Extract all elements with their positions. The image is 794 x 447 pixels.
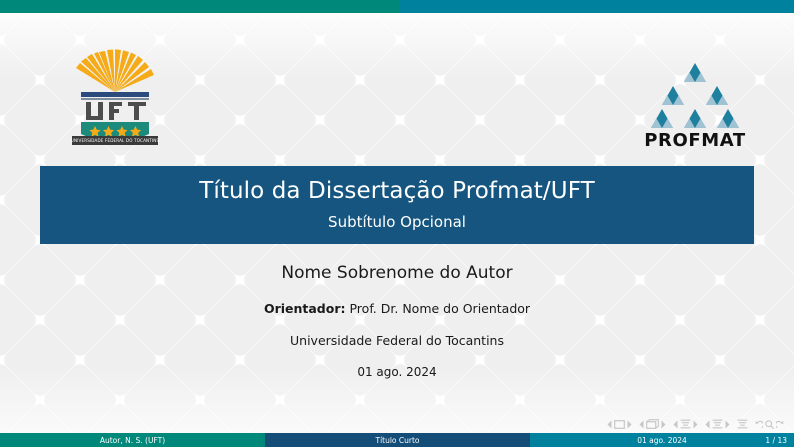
beamer-navigation-symbols[interactable] (607, 417, 784, 431)
footer-page-number: 1 / 13 (765, 433, 787, 447)
footer-title-text: Título Curto (375, 436, 419, 445)
advisor-line: Orientador: Prof. Dr. Nome do Orientador (0, 301, 794, 316)
slide-navigation-group[interactable] (607, 420, 632, 429)
frame-navigation-group[interactable] (639, 419, 666, 429)
uft-banner-text: UNIVERSIDADE FEDERAL DO TOCANTINS (71, 138, 160, 143)
topbar-right-segment (400, 0, 794, 13)
author-block: Nome Sobrenome do Autor Orientador: Prof… (0, 263, 794, 379)
title-box: Título da Dissertação Profmat/UFT Subtít… (40, 166, 754, 244)
slide-footer: Autor, N. S. (UFT) Título Curto 01 ago. … (0, 433, 794, 447)
section-navigation-group[interactable] (705, 419, 730, 429)
subsection-prev-icon[interactable] (673, 420, 678, 429)
advisor-label: Orientador: (264, 301, 346, 316)
footer-date-cell: 01 ago. 2024 1 / 13 (530, 433, 794, 447)
presentation-date: 01 ago. 2024 (0, 365, 794, 379)
slide-next-icon[interactable] (627, 420, 632, 429)
topbar-left-segment (0, 0, 400, 13)
profmat-logo: PROFMAT (636, 55, 754, 150)
history-navigation-group[interactable] (755, 420, 784, 429)
presentation-subtitle: Subtítulo Opcional (328, 213, 466, 232)
section-icon[interactable] (712, 419, 723, 429)
institute-name: Universidade Federal do Tocantins (0, 333, 794, 348)
slide-prev-icon[interactable] (607, 420, 612, 429)
author-name: Nome Sobrenome do Autor (0, 263, 794, 283)
forward-icon[interactable] (776, 420, 784, 429)
section-prev-icon[interactable] (705, 420, 710, 429)
footer-author-cell: Autor, N. S. (UFT) (0, 433, 265, 447)
presentation-slide: UNIVERSIDADE FEDERAL DO TOCANTINS (0, 0, 794, 447)
search-icon[interactable] (765, 420, 774, 429)
profmat-wordmark: PROFMAT (644, 130, 746, 150)
frame-next-icon[interactable] (661, 420, 666, 429)
presentation-icon[interactable] (737, 419, 748, 429)
slide-icon[interactable] (614, 420, 625, 429)
footer-date-text: 01 ago. 2024 (637, 436, 687, 445)
footer-title-cell: Título Curto (265, 433, 530, 447)
advisor-name: Prof. Dr. Nome do Orientador (349, 301, 530, 316)
frame-icon[interactable] (646, 419, 659, 429)
subsection-next-icon[interactable] (693, 420, 698, 429)
frame-prev-icon[interactable] (639, 420, 644, 429)
footer-author-text: Autor, N. S. (UFT) (100, 436, 165, 445)
top-decorative-bar (0, 0, 794, 13)
back-icon[interactable] (755, 420, 763, 429)
uft-logo: UNIVERSIDADE FEDERAL DO TOCANTINS (66, 48, 164, 148)
subsection-icon[interactable] (680, 419, 691, 429)
presentation-title: Título da Dissertação Profmat/UFT (199, 178, 595, 206)
section-next-icon[interactable] (725, 420, 730, 429)
subsection-navigation-group[interactable] (673, 419, 698, 429)
